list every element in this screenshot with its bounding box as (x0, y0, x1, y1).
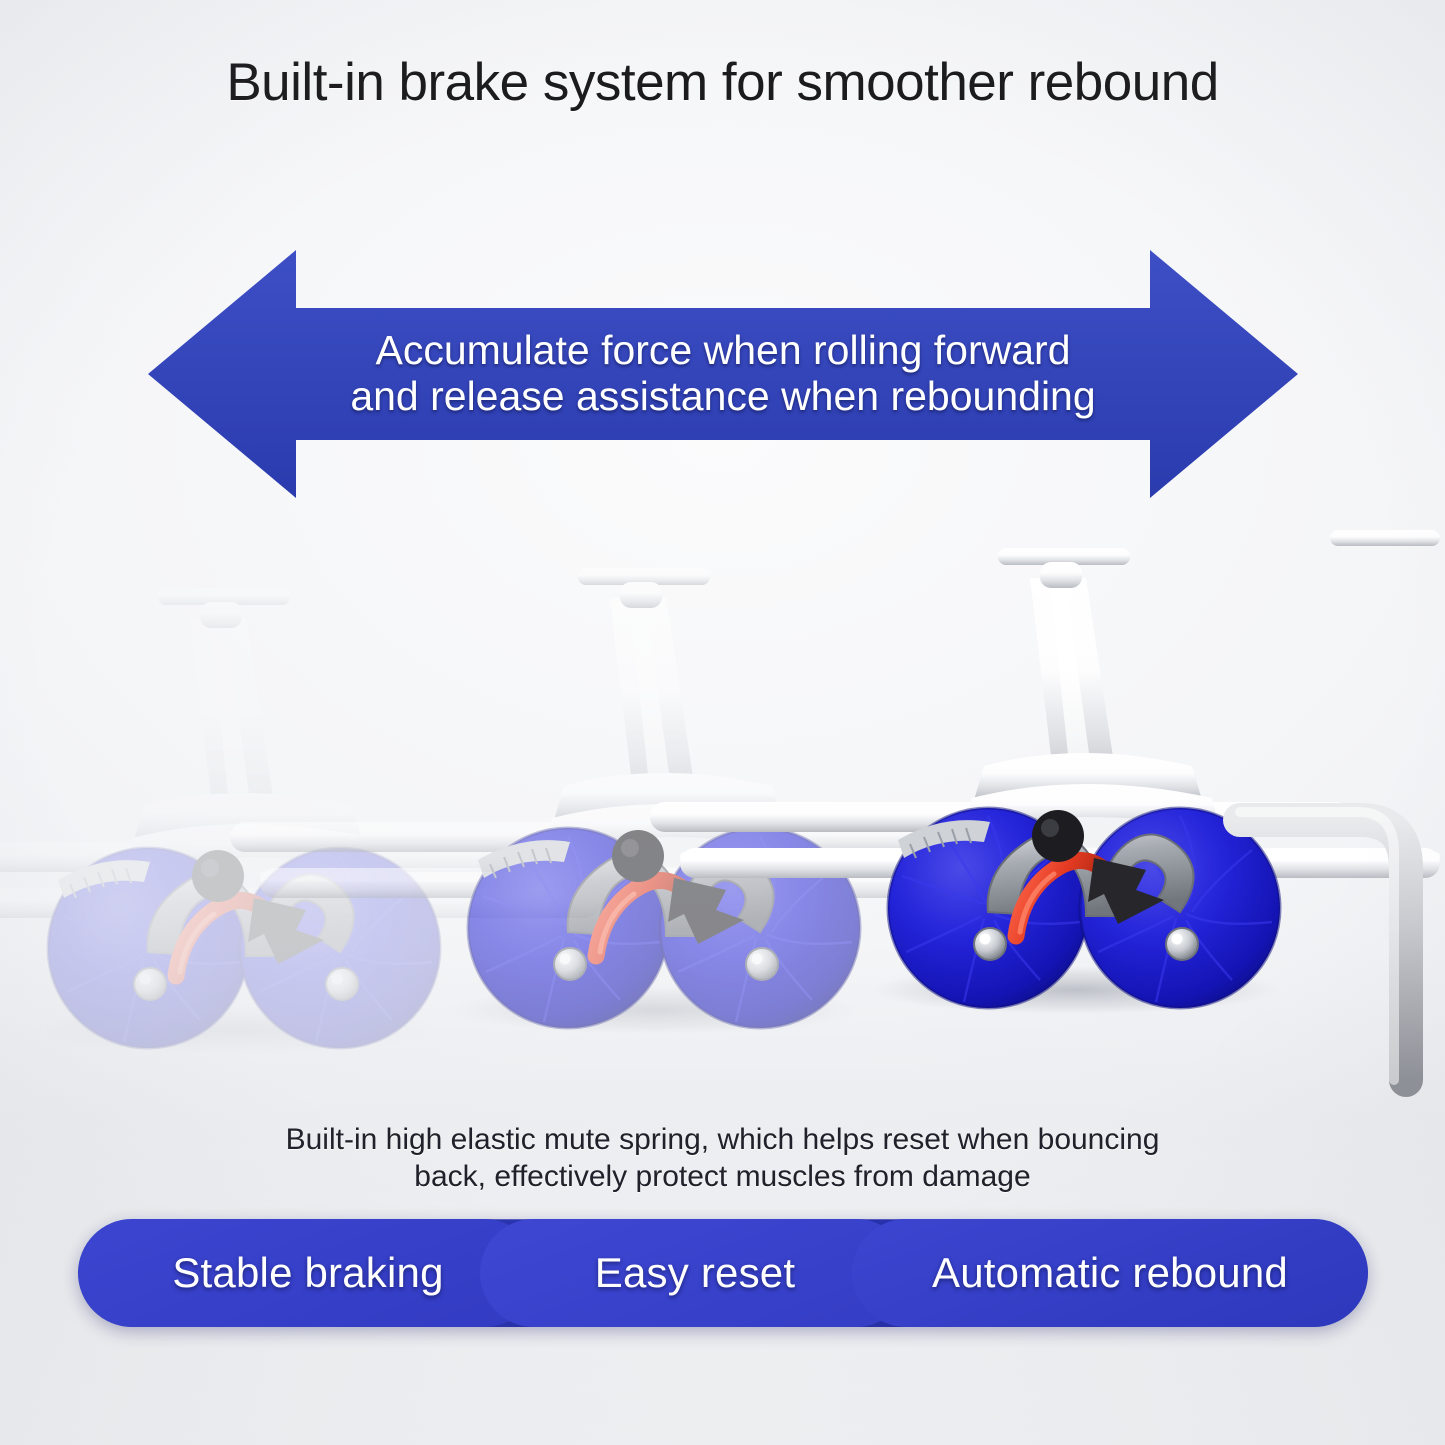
product-infographic: Built-in brake system for smoother rebou… (0, 0, 1445, 1445)
feature-pill-label: Stable braking (172, 1249, 443, 1297)
feature-pill-easy-reset[interactable]: Easy reset (480, 1219, 910, 1327)
feature-pill-automatic-rebound[interactable]: Automatic rebound (852, 1219, 1368, 1327)
double-arrow-shape (148, 248, 1298, 500)
feature-pill-label: Automatic rebound (932, 1249, 1288, 1297)
handlebar-tube-right (1240, 530, 1440, 1080)
feature-pill-label: Easy reset (595, 1249, 795, 1297)
force-direction-arrow: Accumulate force when rolling forward an… (148, 248, 1298, 500)
caption-line1: Built-in high elastic mute spring, which… (180, 1122, 1265, 1159)
caption-line2: back, effectively protect muscles from d… (180, 1159, 1265, 1196)
feature-pill-stable-braking[interactable]: Stable braking (78, 1219, 538, 1327)
page-title: Built-in brake system for smoother rebou… (0, 52, 1445, 113)
feature-pill-bar: Stable braking Easy reset Automatic rebo… (78, 1219, 1368, 1327)
product-caption: Built-in high elastic mute spring, which… (180, 1122, 1265, 1195)
product-photo-ab-roller (0, 520, 1445, 1080)
